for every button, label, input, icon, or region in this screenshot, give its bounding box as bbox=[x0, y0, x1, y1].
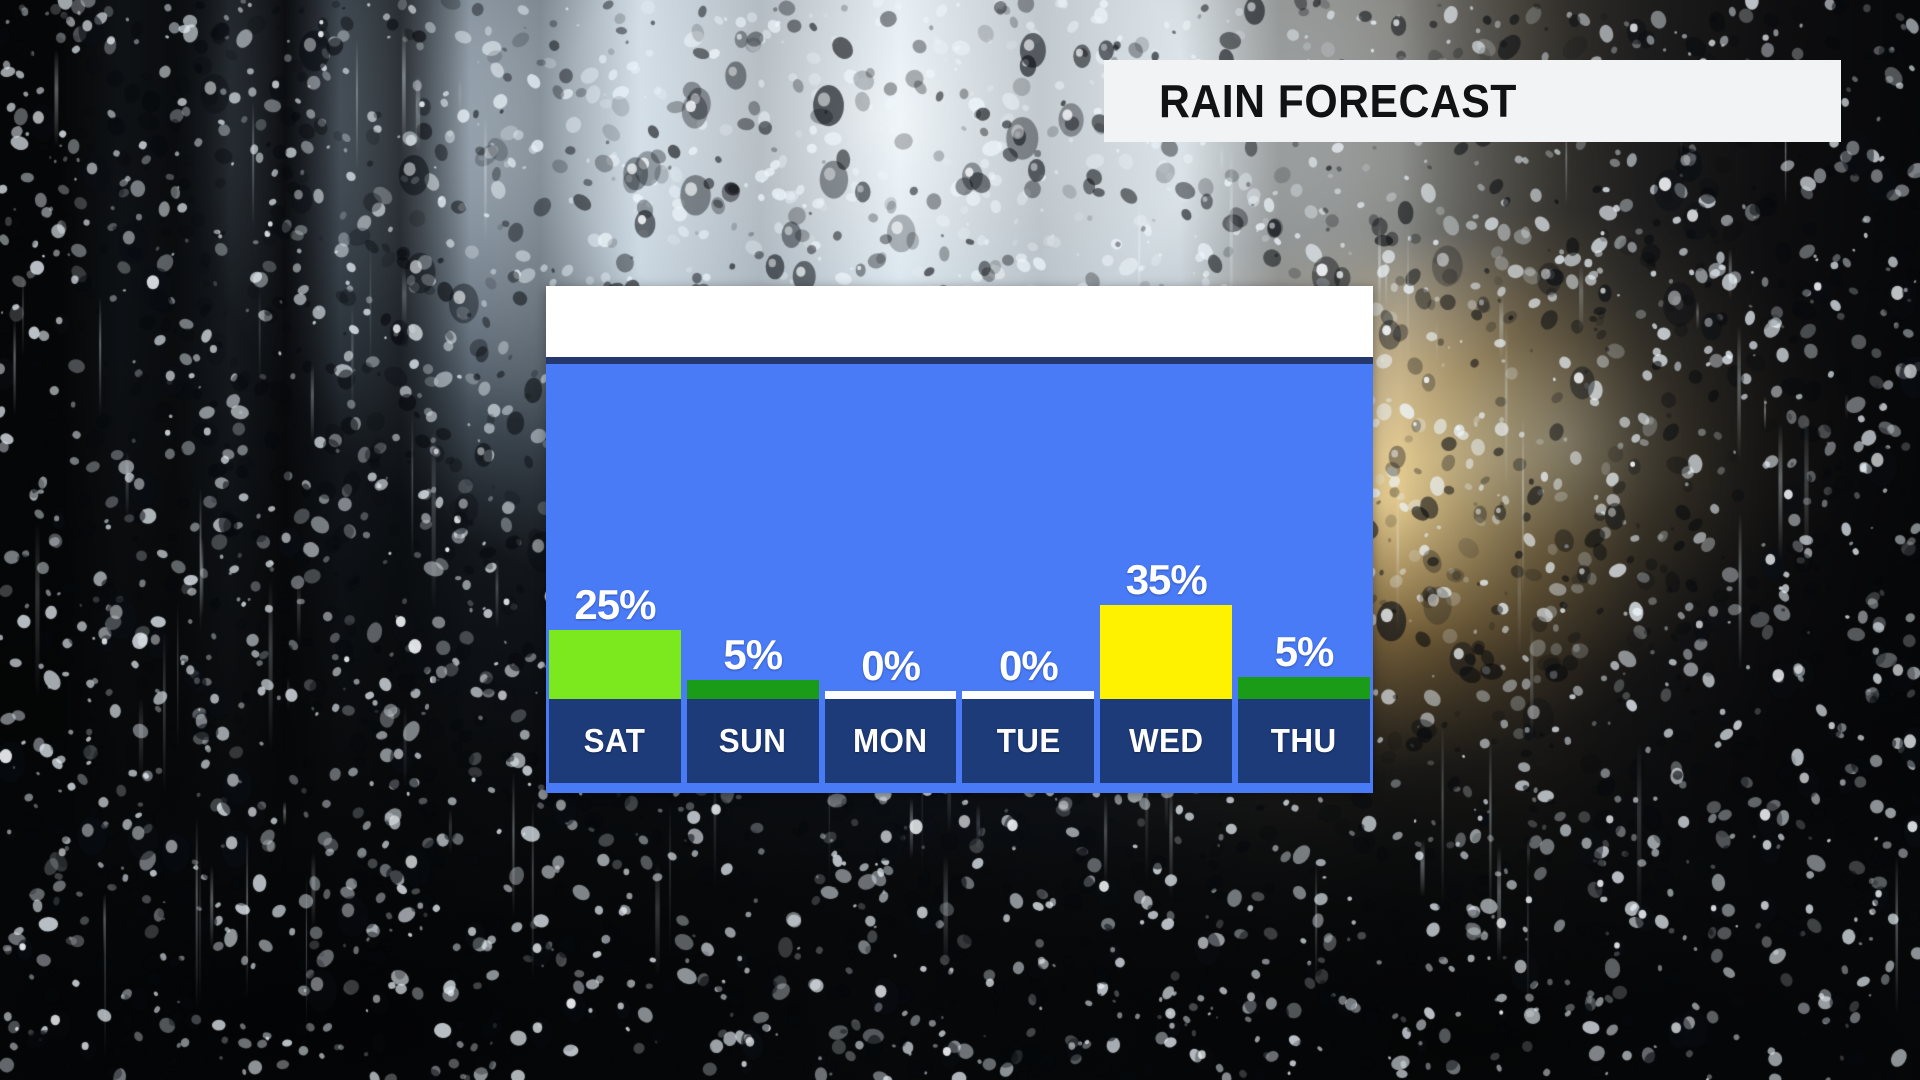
day-footer-sun: SUN bbox=[687, 699, 819, 783]
forecast-day-column-sun: 5%SUN bbox=[684, 364, 822, 793]
day-footer-wed: WED bbox=[1100, 699, 1232, 783]
rain-probability-bar-chart: 25%SAT5%SUN0%MON0%TUE35%WED5%THU bbox=[546, 364, 1373, 793]
rain-bar-thu bbox=[1238, 677, 1370, 699]
forecast-day-column-tue: 0%TUE bbox=[959, 364, 1097, 793]
day-label-tue: TUE bbox=[996, 722, 1060, 760]
page-title: RAIN FORECAST bbox=[1159, 74, 1517, 128]
day-label-thu: THU bbox=[1271, 722, 1337, 760]
panel-header-strip bbox=[546, 286, 1373, 357]
panel-divider bbox=[546, 357, 1373, 364]
day-footer-thu: THU bbox=[1238, 699, 1370, 783]
forecast-day-column-sat: 25%SAT bbox=[546, 364, 684, 793]
rain-bar-tue bbox=[962, 691, 1094, 699]
rain-bar-wed bbox=[1100, 605, 1232, 699]
day-footer-mon: MON bbox=[825, 699, 957, 783]
forecast-day-column-wed: 35%WED bbox=[1097, 364, 1235, 793]
day-label-sun: SUN bbox=[719, 722, 787, 760]
rain-bar-sun bbox=[687, 680, 819, 699]
rain-forecast-panel: 25%SAT5%SUN0%MON0%TUE35%WED5%THU bbox=[546, 286, 1373, 793]
day-label-mon: MON bbox=[853, 722, 928, 760]
rain-bar-sat bbox=[549, 630, 681, 699]
rain-bar-mon bbox=[825, 691, 957, 699]
title-banner: RAIN FORECAST bbox=[1104, 60, 1841, 142]
forecast-day-column-mon: 0%MON bbox=[822, 364, 960, 793]
day-footer-sat: SAT bbox=[549, 699, 681, 783]
day-label-wed: WED bbox=[1129, 722, 1204, 760]
day-footer-tue: TUE bbox=[962, 699, 1094, 783]
day-label-sat: SAT bbox=[584, 722, 646, 760]
forecast-day-column-thu: 5%THU bbox=[1235, 364, 1373, 793]
